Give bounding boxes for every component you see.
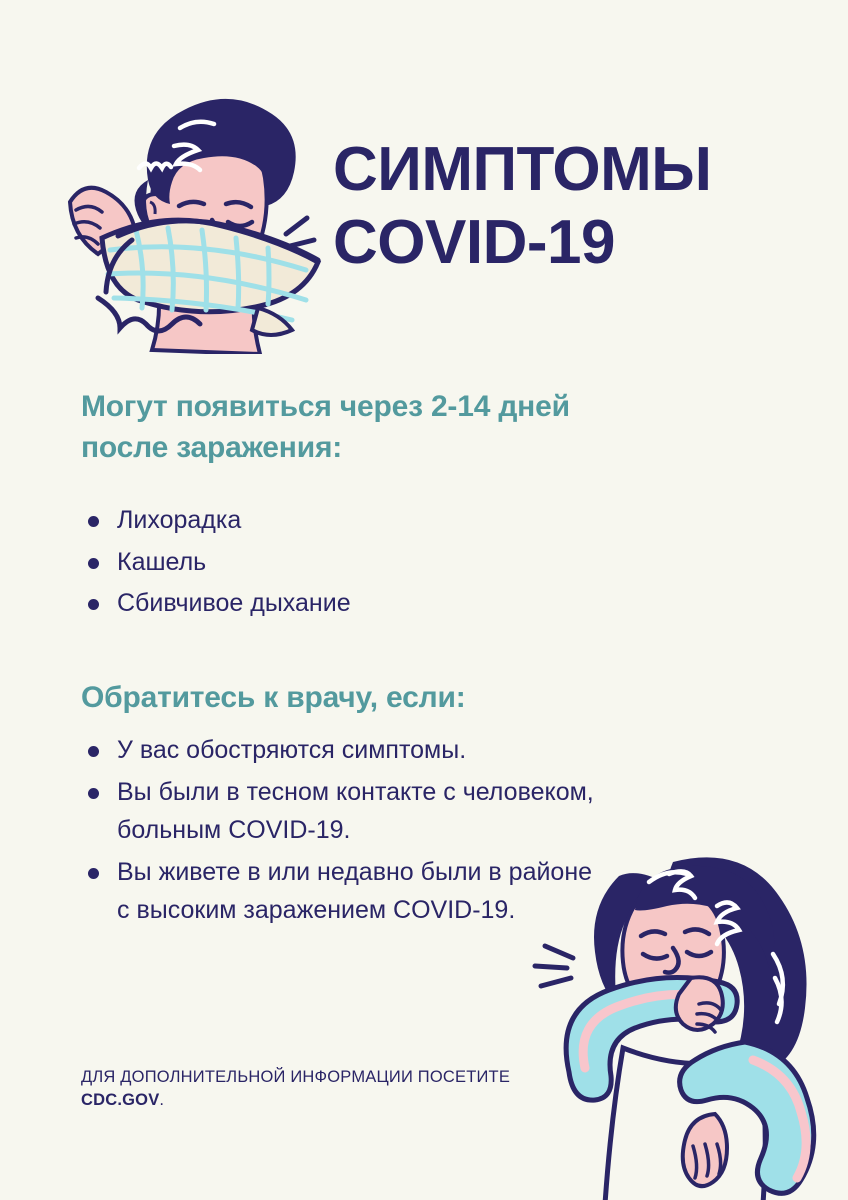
list-item: Кашель <box>86 543 556 583</box>
poster-title: СИМПТОМЫ COVID-19 <box>333 133 823 279</box>
list-item: У вас обостряются симптомы. <box>86 731 606 769</box>
cdc-link[interactable]: CDC.GOV <box>81 1091 159 1109</box>
title-line-2: COVID-19 <box>333 206 823 279</box>
covid-symptoms-poster: СИМПТОМЫ COVID-19 Могут появиться через … <box>0 0 848 1200</box>
section-heading-doctor: Обратитесь к врачу, если: <box>81 678 641 719</box>
man-coughing-illustration <box>62 88 324 354</box>
cough-burst-lines <box>535 946 573 986</box>
section-heading-onset: Могут появиться через 2-14 дней после за… <box>81 387 641 469</box>
footer-note: Для дополнительной информации посетите C… <box>81 1066 551 1113</box>
symptoms-list: Лихорадка Кашель Сбивчивое дыхание <box>86 501 556 626</box>
title-line-1: СИМПТОМЫ <box>333 133 823 206</box>
woman-coughing-illustration <box>523 836 848 1200</box>
footer-text-before: Для дополнительной информации посетите <box>81 1068 510 1086</box>
list-item: Лихорадка <box>86 501 556 541</box>
footer-text-after: . <box>159 1091 164 1109</box>
list-item: Сбивчивое дыхание <box>86 584 556 624</box>
